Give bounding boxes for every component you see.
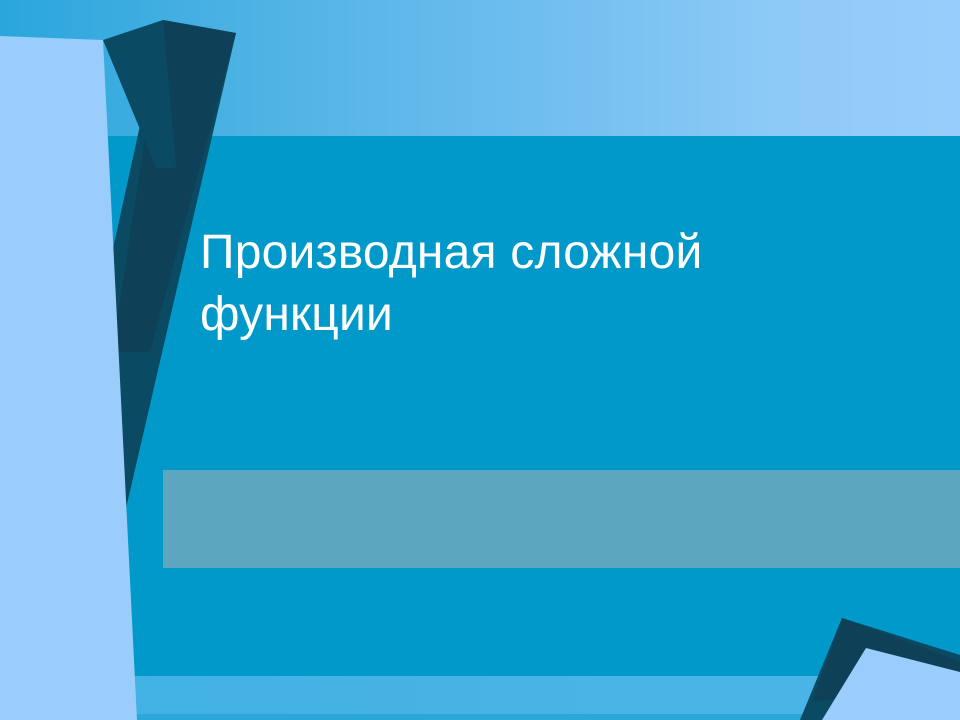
- title-placeholder[interactable]: Производная сложной функции: [200, 222, 900, 346]
- subtitle-text: [163, 470, 960, 483]
- subtitle-placeholder[interactable]: [163, 470, 960, 568]
- bottom-edge-strip: [0, 714, 960, 720]
- title-slide: Производная сложной функции: [0, 0, 960, 720]
- page-title: Производная сложной функции: [200, 222, 900, 346]
- left-light-blue-panel: [0, 36, 137, 720]
- top-gradient-band: [0, 0, 960, 136]
